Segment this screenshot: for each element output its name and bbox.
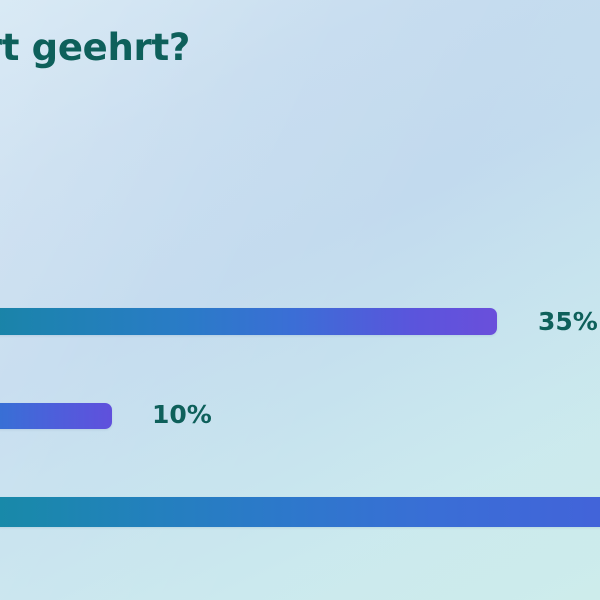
bar-row [0, 308, 600, 336]
slide-canvas: rt geehrt? 35% 10% [0, 0, 600, 600]
bar-segment-1 [0, 308, 497, 335]
bar-row [0, 403, 600, 429]
page-title: rt geehrt? [0, 26, 190, 70]
bar-value-label-1: 35% [538, 309, 598, 334]
bar-segment-3 [0, 497, 600, 527]
bar-value-label-2: 10% [152, 402, 212, 427]
bar-row [0, 497, 600, 528]
bar-segment-2 [0, 403, 112, 429]
